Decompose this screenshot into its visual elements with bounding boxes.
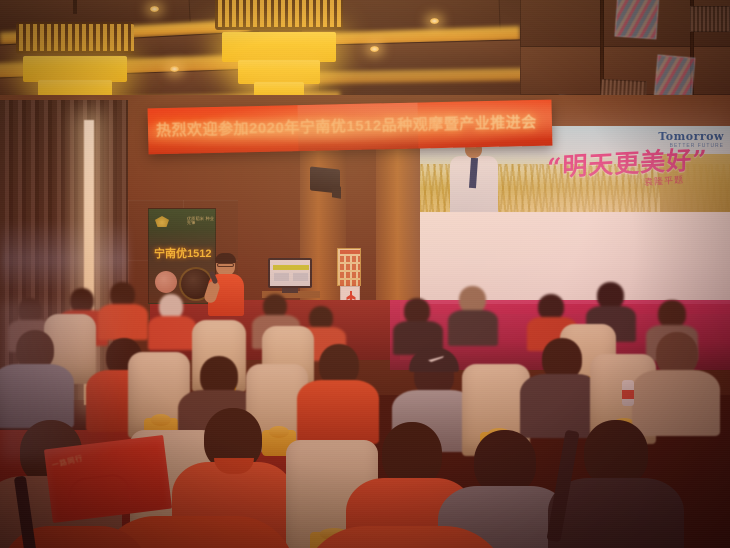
monitor-slide-band — [273, 265, 309, 270]
screen-brand-logo: Tomorrow — [658, 130, 724, 143]
ceiling-vent — [690, 6, 730, 32]
attendee-head — [658, 300, 686, 328]
chandelier-shade-upper — [23, 56, 127, 82]
bottle-label — [622, 390, 634, 399]
chandelier-rod — [73, 0, 77, 14]
poster-icon-row — [340, 256, 360, 262]
attendee-torso — [148, 316, 196, 350]
attendee — [150, 294, 192, 344]
attendee-torso — [448, 310, 498, 346]
rollup-brand-lines: 优质稻米 种业先锋 — [187, 217, 215, 225]
banner-text: 热烈欢迎参加2020年宁南优1512品种观摩暨产业推进会 — [156, 110, 553, 140]
rollup-logo-icon — [155, 216, 169, 227]
attendee-torso — [300, 526, 510, 548]
attendee-torso — [0, 364, 74, 428]
presenter-hair — [215, 253, 236, 263]
attendee-head — [584, 420, 648, 486]
chandelier-fret-ring — [215, 0, 343, 30]
attendee — [640, 332, 710, 432]
attendee-head — [474, 430, 536, 494]
logo-text: Tomorrow — [658, 130, 724, 143]
attendee-torso — [98, 304, 148, 340]
speaker-bracket — [332, 185, 341, 199]
tote-bag-text: 一路同行 — [51, 453, 84, 470]
attendee-head — [382, 422, 442, 486]
ceiling-downlight — [370, 46, 379, 52]
ceiling-downlight — [150, 6, 159, 12]
attendee — [450, 286, 494, 342]
attendee — [100, 282, 144, 336]
chandelier-fret-ring — [16, 22, 134, 54]
poster-icon-row — [340, 272, 360, 278]
photo-scene: “明天更美好” 袁隆平题 Tomorrow BETTER FUTURE 一路同行… — [0, 0, 730, 548]
screen-brand-subtitle: BETTER FUTURE — [670, 143, 724, 149]
attendee-head — [597, 282, 624, 309]
attendee — [396, 298, 438, 348]
chandelier-shade-upper — [222, 32, 336, 62]
ceiling-downlight — [430, 18, 439, 24]
poster-title-bar — [340, 250, 360, 254]
chandelier-shade-mid — [238, 60, 320, 84]
attendee — [0, 330, 66, 422]
presenter-glasses — [217, 263, 234, 267]
audience-area: 一路同行 — [0, 280, 730, 548]
ceiling-downlight — [170, 66, 179, 72]
attendee-head — [459, 286, 486, 313]
screen-calligraphy-signature: 袁隆平题 — [644, 173, 685, 189]
poster-icon-row — [340, 264, 360, 270]
projection-screen: “明天更美好” 袁隆平题 Tomorrow BETTER FUTURE 一路同行… — [420, 126, 730, 306]
attendee-foreground — [300, 526, 500, 548]
welcome-banner: 热烈欢迎参加2020年宁南优1512品种观摩暨产业推进会 — [148, 100, 553, 155]
ceiling-mosaic-panel — [614, 0, 659, 39]
rollup-title: 宁南优1512 — [154, 245, 211, 261]
chandelier-right — [215, 0, 343, 104]
